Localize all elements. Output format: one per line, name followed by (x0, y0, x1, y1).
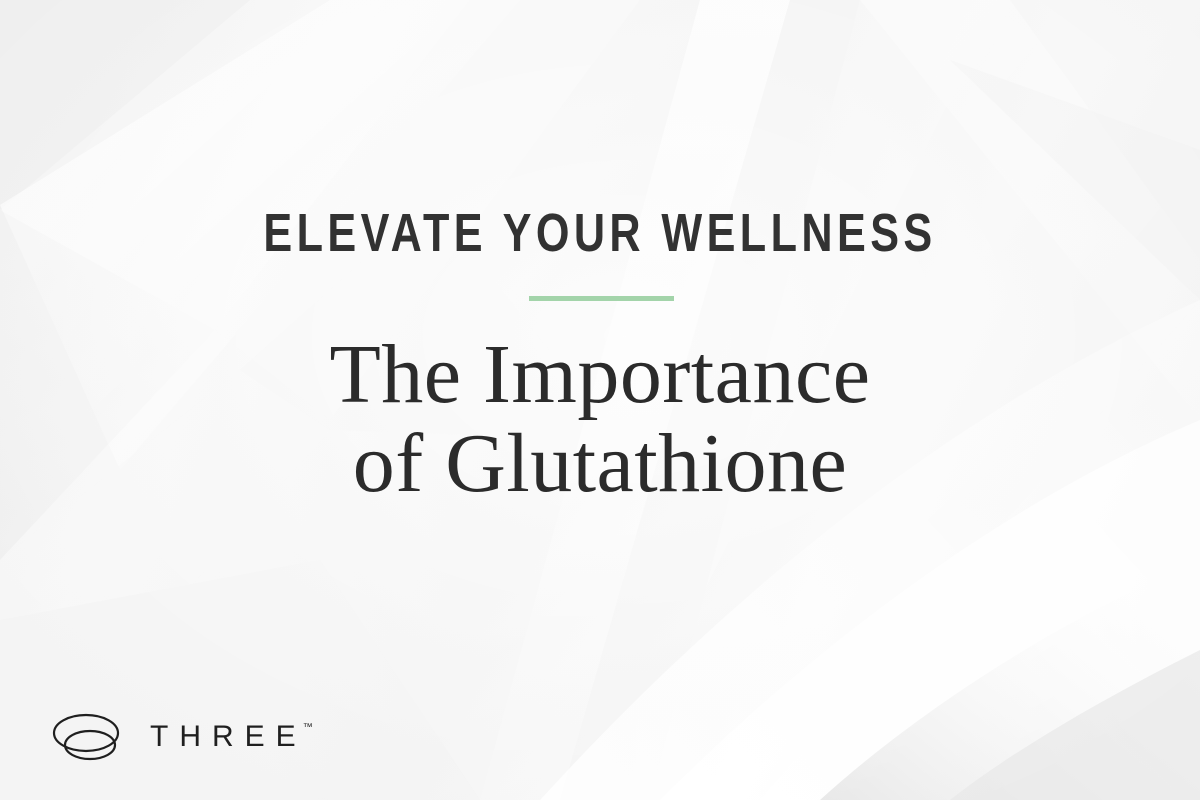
wellness-promo-card: ELEVATE YOUR WELLNESS The Importance of … (0, 0, 1200, 800)
brand-name: THREE (150, 722, 307, 752)
trademark-symbol: ™ (303, 723, 313, 733)
page-title: The Importance of Glutathione (0, 330, 1200, 508)
headline-line-1: The Importance (0, 330, 1200, 419)
brand-logo: THREE ™ (52, 708, 313, 766)
headline-line-2: of Glutathione (0, 419, 1200, 508)
three-rings-icon (52, 708, 124, 766)
card-content: ELEVATE YOUR WELLNESS The Importance of … (0, 0, 1200, 800)
brand-wordmark: THREE ™ (150, 722, 313, 752)
eyebrow-heading: ELEVATE YOUR WELLNESS (120, 206, 1080, 260)
accent-divider (529, 296, 674, 301)
